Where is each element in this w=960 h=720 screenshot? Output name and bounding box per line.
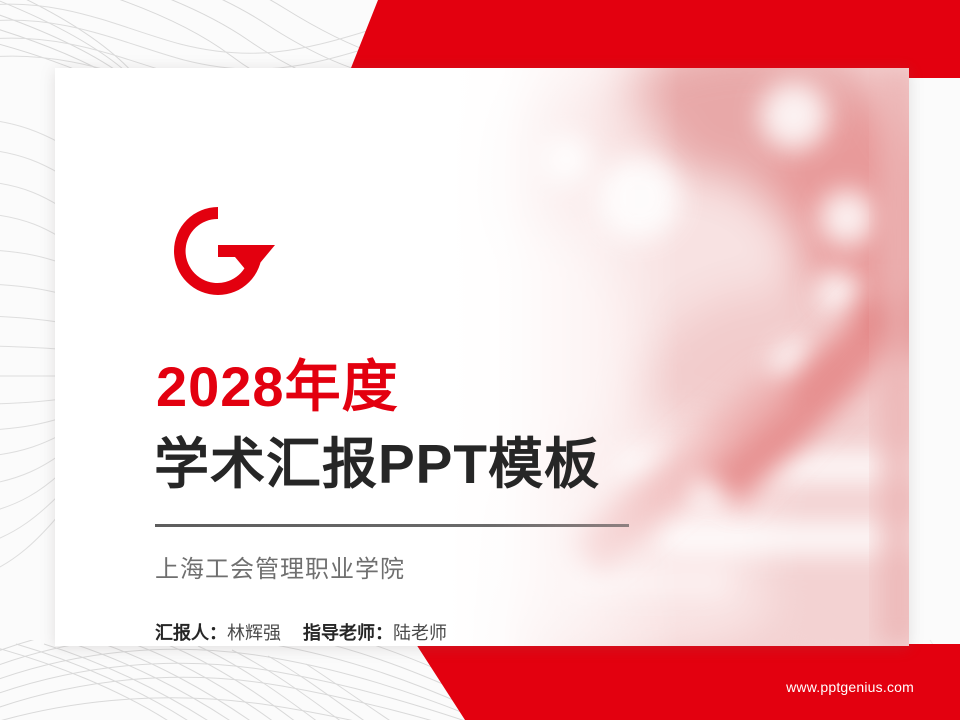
photo-fade-overlay	[449, 68, 679, 646]
advisor-colon: ：	[375, 623, 393, 643]
title-year: 2028年度	[156, 359, 399, 415]
advisor-name: 陆老师	[393, 623, 447, 643]
title-main: 学术汇报PPT模板	[154, 437, 600, 492]
site-url-text: www.pptgenius.com	[786, 679, 914, 695]
reporter-label: 汇报人	[155, 623, 209, 643]
reporter-colon: ：	[209, 623, 227, 643]
g-arrow-logo-icon	[159, 201, 277, 301]
advisor-label: 指导老师	[303, 623, 375, 643]
g-arrow-logo	[159, 201, 277, 301]
content-card: 2028年度 学术汇报PPT模板 上海工会管理职业学院 汇报人：林辉强指导老师：…	[55, 68, 909, 646]
title-divider	[155, 524, 629, 527]
background-photo	[449, 68, 909, 646]
presentation-slide: www.pptgenius.com	[0, 0, 960, 720]
presenter-line: 汇报人：林辉强指导老师：陆老师	[155, 619, 447, 645]
reporter-name: 林辉强	[227, 623, 281, 643]
organization-name: 上海工会管理职业学院	[155, 549, 405, 584]
